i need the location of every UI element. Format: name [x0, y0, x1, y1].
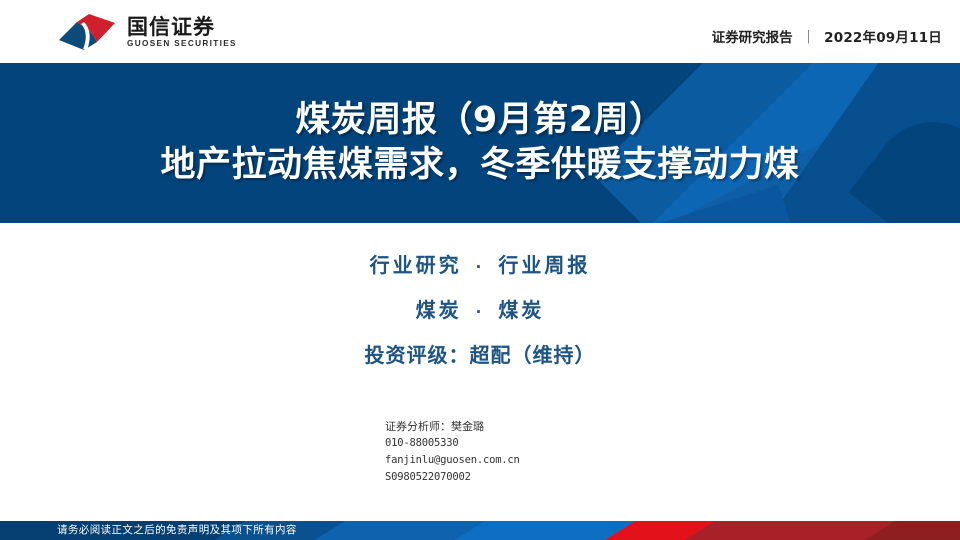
logo-company-name-en: GUOSEN SECURITIES — [127, 40, 237, 48]
report-type-label: 证券研究报告 — [712, 26, 793, 46]
page-footer: 请务必阅读正文之后的免责声明及其项下所有内容 — [0, 521, 960, 540]
analyst-license-number: S0980522070002 — [385, 469, 520, 486]
analyst-phone: 010-88005330 — [385, 435, 520, 452]
meta-industry-right: 煤炭 — [498, 298, 544, 322]
meta-category-left: 行业研究 — [370, 253, 462, 277]
page-header: 国信证券 GUOSEN SECURITIES 证券研究报告 ｜ 2022年09月… — [0, 0, 960, 63]
logo-company-name-cn: 国信证券 — [127, 16, 237, 38]
guosen-logo-icon — [57, 12, 121, 52]
analyst-contact-block: 证券分析师：樊金璐 010-88005330 fanjinlu@guosen.c… — [385, 418, 520, 485]
meta-category-right: 行业周报 — [498, 253, 590, 277]
meta-investment-rating: 投资评级：超配（维持） — [0, 339, 960, 368]
report-title-line-2: 地产拉动焦煤需求，冬季供暖支撑动力煤 — [160, 143, 799, 188]
report-title-line-1: 煤炭周报（9月第2周） — [295, 98, 664, 143]
meta-industry: 煤炭·煤炭 — [0, 294, 960, 323]
meta-dot-icon-1: · — [476, 258, 485, 276]
analyst-name: 证券分析师：樊金璐 — [385, 418, 520, 435]
analyst-email: fanjinlu@guosen.com.cn — [385, 452, 520, 469]
banner-title-group: 煤炭周报（9月第2周） 地产拉动焦煤需求，冬季供暖支撑动力煤 — [0, 63, 960, 223]
meta-industry-left: 煤炭 — [416, 298, 462, 322]
footer-disclaimer-text: 请务必阅读正文之后的免责声明及其项下所有内容 — [57, 521, 297, 540]
report-meta-block: 行业研究·行业周报 煤炭·煤炭 投资评级：超配（维持） — [0, 223, 960, 368]
header-report-meta: 证券研究报告 ｜ 2022年09月11日 — [712, 26, 942, 46]
report-date: 2022年09月11日 — [824, 26, 942, 46]
header-divider: ｜ — [802, 26, 816, 46]
meta-dot-icon-2: · — [476, 303, 485, 321]
title-banner: 煤炭周报（9月第2周） 地产拉动焦煤需求，冬季供暖支撑动力煤 — [0, 63, 960, 223]
company-logo: 国信证券 GUOSEN SECURITIES — [57, 12, 237, 52]
meta-research-category: 行业研究·行业周报 — [0, 249, 960, 278]
